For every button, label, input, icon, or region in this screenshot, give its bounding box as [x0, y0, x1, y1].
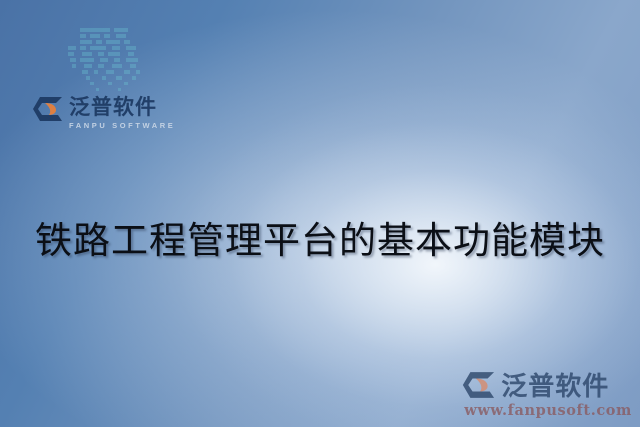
page-title: 铁路工程管理平台的基本功能模块	[0, 221, 640, 262]
fanpu-logo-mark-icon	[462, 371, 496, 399]
banner-canvas: 泛普软件 FANPU SOFTWARE 铁路工程管理平台的基本功能模块 泛普软件…	[0, 0, 640, 427]
fanpu-logo-mark-icon	[33, 96, 63, 122]
brand-watermark-bottom-right: 泛普软件 www.fanpusoft.com	[462, 366, 632, 419]
brand-name-en: FANPU SOFTWARE	[69, 122, 175, 130]
brand-name-cn: 泛普软件	[69, 97, 175, 118]
watermark-url: www.fanpusoft.com	[464, 402, 632, 419]
watermark-name-cn: 泛普软件	[501, 366, 609, 403]
dissolving-pixel-watermark-icon	[62, 22, 166, 104]
brand-logo-top-left: 泛普软件 FANPU SOFTWARE	[33, 96, 175, 130]
